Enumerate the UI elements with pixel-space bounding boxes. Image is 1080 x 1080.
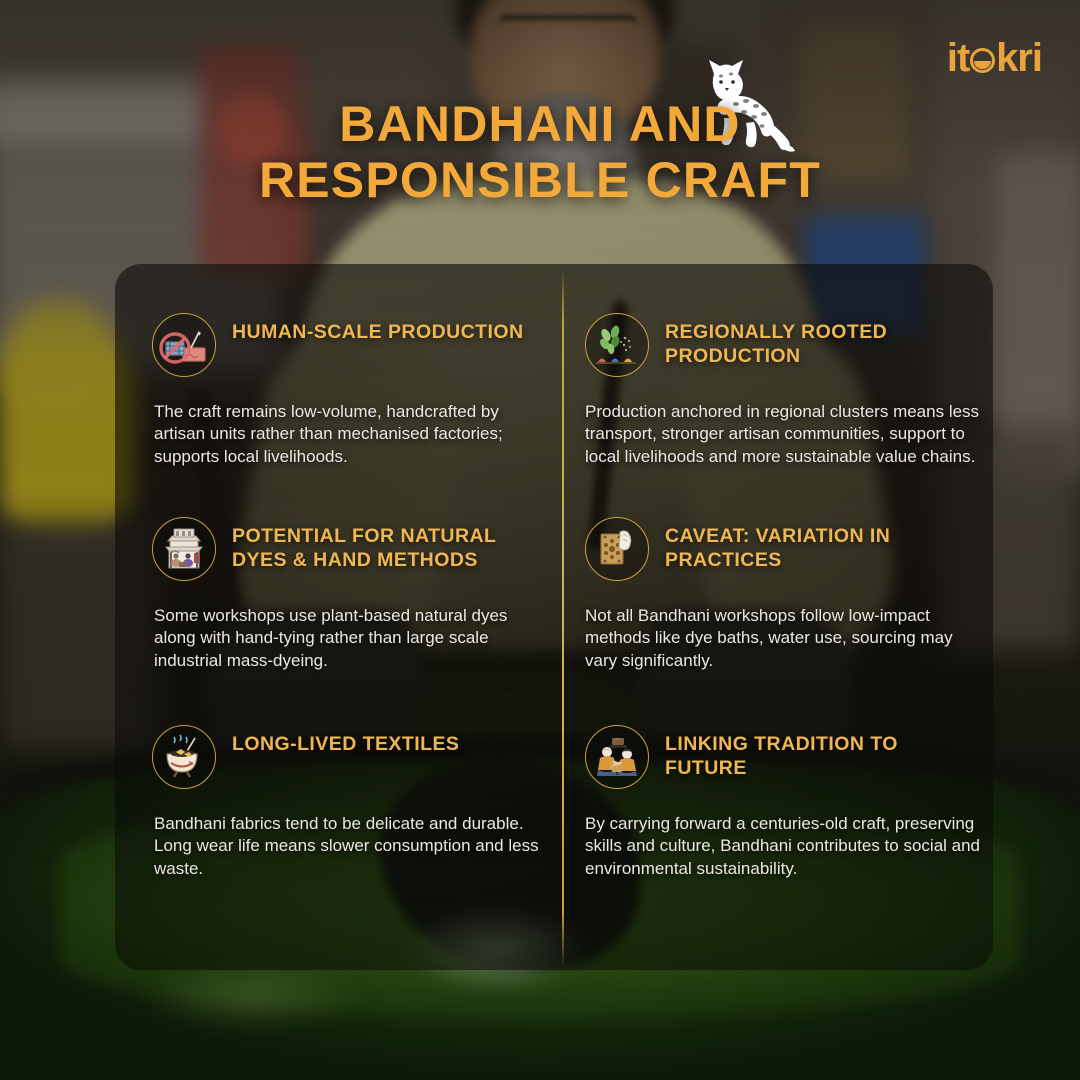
item-title: LONG-LIVED TEXTILES (232, 733, 459, 757)
page-title: BANDHANI AND RESPONSIBLE CRAFT (0, 96, 1080, 208)
item-title: CAVEAT: VARIATION IN PRACTICES (665, 525, 985, 573)
item-body: Some workshops use plant-based natural d… (154, 605, 552, 672)
no-factory-icon (152, 313, 216, 377)
logo-text-pre: it (947, 36, 969, 80)
benefit-item-regionally-rooted-production[interactable]: REGIONALLY ROOTED PRODUCTION Production … (585, 313, 985, 468)
item-title: HUMAN-SCALE PRODUCTION (232, 321, 524, 345)
item-header: POTENTIAL FOR NATURAL DYES & HAND METHOD… (152, 517, 552, 581)
item-body: Bandhani fabrics tend to be delicate and… (154, 813, 552, 880)
item-body: Production anchored in regional clusters… (585, 401, 985, 468)
item-body: By carrying forward a centuries-old craf… (585, 813, 985, 880)
workshop-building-icon (152, 517, 216, 581)
item-header: REGIONALLY ROOTED PRODUCTION (585, 313, 985, 377)
item-header: CAVEAT: VARIATION IN PRACTICES (585, 517, 985, 581)
benefit-item-human-scale-production[interactable]: HUMAN-SCALE PRODUCTION The craft remains… (152, 313, 552, 468)
item-header: LINKING TRADITION TO FUTURE (585, 725, 985, 789)
item-title: LINKING TRADITION TO FUTURE (665, 733, 985, 781)
title-line-1: BANDHANI AND (339, 96, 740, 152)
benefit-item-caveat-variation-in-practices[interactable]: CAVEAT: VARIATION IN PRACTICES Not all B… (585, 517, 985, 672)
logo-o-glyph (970, 48, 995, 73)
column-divider (562, 268, 564, 968)
dye-pot-icon (152, 725, 216, 789)
hand-holding-fabric-icon (585, 517, 649, 581)
plant-dyes-regional-icon (585, 313, 649, 377)
benefit-item-long-lived-textiles[interactable]: LONG-LIVED TEXTILES Bandhani fabrics ten… (152, 725, 552, 880)
item-header: HUMAN-SCALE PRODUCTION (152, 313, 552, 377)
benefit-item-natural-dyes-hand-methods[interactable]: POTENTIAL FOR NATURAL DYES & HAND METHOD… (152, 517, 552, 672)
item-title: REGIONALLY ROOTED PRODUCTION (665, 321, 985, 369)
brand-logo[interactable]: itkri (947, 38, 1042, 78)
benefit-item-linking-tradition-to-future[interactable]: LINKING TRADITION TO FUTURE By carrying … (585, 725, 985, 880)
item-body: The craft remains low-volume, handcrafte… (154, 401, 552, 468)
item-body: Not all Bandhani workshops follow low-im… (585, 605, 985, 672)
title-line-2: RESPONSIBLE CRAFT (0, 152, 1080, 208)
logo-text-post: kri (996, 36, 1042, 80)
two-artisans-icon (585, 725, 649, 789)
item-header: LONG-LIVED TEXTILES (152, 725, 552, 789)
item-title: POTENTIAL FOR NATURAL DYES & HAND METHOD… (232, 525, 552, 573)
